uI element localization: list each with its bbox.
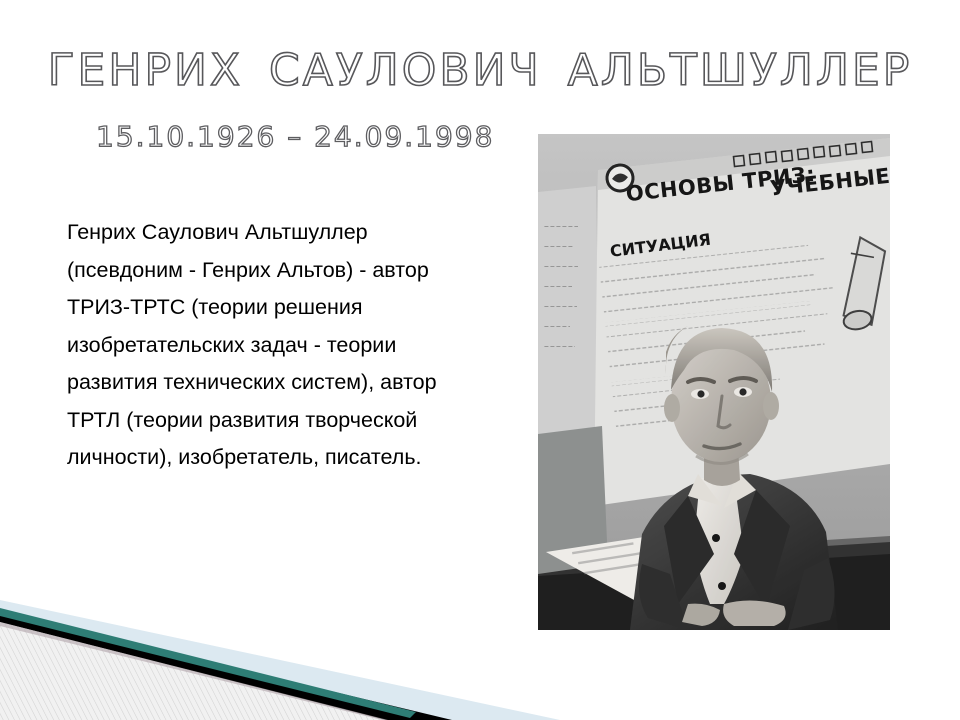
presentation-slide: ГЕНРИХСАУЛОВИЧАЛЬТШУЛЛЕР 15.10.1926 – 24… xyxy=(0,0,960,720)
title-word-2: САУЛОВИЧ xyxy=(269,45,542,96)
band-divider xyxy=(0,622,388,720)
band-teal-line xyxy=(0,608,416,718)
life-dates: 15.10.1926 – 24.09.1998 xyxy=(96,120,494,153)
band-black xyxy=(0,612,452,720)
page-title: ГЕНРИХСАУЛОВИЧАЛЬТШУЛЛЕР xyxy=(0,44,960,98)
title-word-1: ГЕНРИХ xyxy=(48,45,243,96)
band-hatched-gray xyxy=(0,622,386,720)
portrait-photo: ОСНОВЫ ТРИЗ: УЧЕБНЫЕ ЗАДАЧИ xyxy=(538,134,890,630)
portrait-photo-image: ОСНОВЫ ТРИЗ: УЧЕБНЫЕ ЗАДАЧИ xyxy=(538,134,890,630)
biography-text: Генрих Саулович Альтшуллер (псевдоним - … xyxy=(67,214,487,477)
title-word-3: АЛЬТШУЛЛЕР xyxy=(568,45,913,96)
band-pale-blue xyxy=(0,600,560,720)
